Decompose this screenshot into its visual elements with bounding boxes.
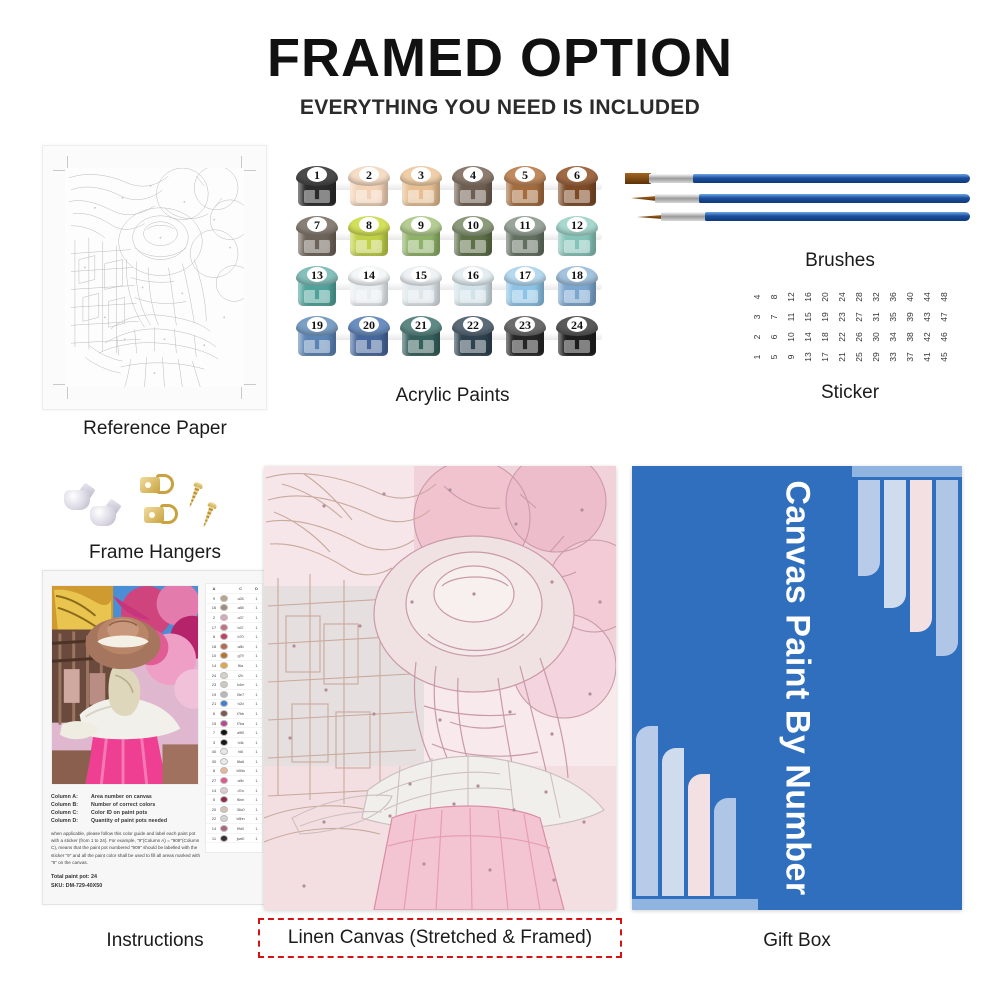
sticker-number: 11 (786, 310, 796, 324)
legend-row: 11jwd01 (206, 834, 262, 844)
paint-pot-number: 24 (556, 317, 598, 334)
sticker-number: 43 (922, 310, 932, 324)
sticker-number: 12 (786, 290, 796, 304)
sticker-number: 5 (769, 350, 779, 364)
legend-color-id: b70 (228, 634, 253, 639)
caption-sticker: Sticker (760, 382, 940, 404)
legend-area-number: 17 (208, 625, 220, 630)
paint-pot: 22 (452, 316, 494, 358)
legend-row: 17b471 (206, 623, 262, 633)
sticker-number: 35 (888, 310, 898, 324)
reference-paper-sheet (42, 145, 267, 410)
paint-pot-number: 7 (296, 217, 338, 234)
legend-color-id: a26 (228, 596, 253, 601)
legend-color-id: a9f0 (228, 730, 253, 735)
legend-color-id: d7a (228, 788, 253, 793)
legend-color-swatch (220, 614, 228, 621)
legend-color-swatch (220, 643, 228, 650)
acrylic-paint-pots: 123456789101112131415161718192021222324 (296, 166, 608, 361)
legend-row: 2036c01 (206, 805, 262, 815)
sticker-number: 42 (922, 330, 932, 344)
paint-pot: 5 (504, 166, 546, 208)
legend-area-number: 20 (208, 807, 220, 812)
legend-area-number: 18 (208, 644, 220, 649)
legend-row: 14f9d01 (206, 824, 262, 834)
legend-row: 24r2h1 (206, 671, 262, 681)
sticker-number: 24 (837, 290, 847, 304)
framed-option-infographic: FRAMED OPTION EVERYTHING YOU NEED IS INC… (0, 0, 1000, 1000)
sticker-number: 29 (871, 350, 881, 364)
legend-quantity: 1 (253, 740, 260, 745)
sticker-number: 17 (820, 350, 830, 364)
sticker-number: 23 (837, 310, 847, 324)
legend-area-number: 8 (208, 634, 220, 639)
d-ring-hanger-icon (140, 474, 174, 496)
paint-pot-number: 17 (504, 267, 546, 284)
legend-row: 18a8b1 (206, 642, 262, 652)
paint-pot-number: 9 (400, 217, 442, 234)
plastic-hook-icon (64, 480, 90, 510)
legend-quantity: 1 (253, 788, 260, 793)
legend-color-swatch (220, 720, 228, 727)
paint-pot: 4 (452, 166, 494, 208)
sticker-number: 9 (786, 350, 796, 364)
legend-area-number: 6 (208, 711, 220, 716)
instructions-total-paint-pot: Total paint pot: 24 (51, 873, 201, 882)
paint-pot: 20 (348, 316, 390, 358)
legend-color-swatch (220, 595, 228, 602)
instructions-sheet: A C D 9a26116a8812a37117b4718b70118a8b11… (42, 570, 270, 905)
legend-color-id: b59a (228, 768, 253, 773)
paint-pot-number: 3 (400, 167, 442, 184)
sticker-number: 22 (837, 330, 847, 344)
caption-acrylic-paints: Acrylic Paints (300, 385, 605, 407)
legend-row: 16a881 (206, 604, 262, 614)
legend-area-number: 14 (208, 826, 220, 831)
paint-pot: 16 (452, 266, 494, 308)
sticker-number: 20 (820, 290, 830, 304)
paint-pot: 14 (348, 266, 390, 308)
instructions-note: when applicable, please follow this colo… (51, 830, 201, 866)
column-a-desc: Area number on canvas (91, 794, 152, 800)
brush-round-medium (631, 194, 970, 203)
instructions-color-reference-image (51, 585, 199, 785)
brush-flat (625, 174, 970, 183)
page-subtitle: EVERYTHING YOU NEED IS INCLUDED (0, 96, 1000, 120)
paint-pot: 18 (556, 266, 598, 308)
legend-color-swatch (220, 787, 228, 794)
sticker-number: 2 (752, 330, 762, 344)
legend-color-id: h2d (228, 701, 253, 706)
legend-color-swatch (220, 825, 228, 832)
legend-color-swatch (220, 652, 228, 659)
paint-pot-number: 14 (348, 267, 390, 284)
legend-area-number: 2 (208, 615, 220, 620)
paint-pot: 11 (504, 216, 546, 258)
instructions-columns-list: Column A:Area number on canvas Column B:… (51, 793, 201, 825)
legend-area-number: 21 (208, 701, 220, 706)
legend-color-id: f7ba (228, 721, 253, 726)
legend-row: 8b59a1 (206, 767, 262, 777)
legend-color-id: f6a (228, 663, 253, 668)
paint-pot-number: 6 (556, 167, 598, 184)
legend-area-number: 5 (208, 797, 220, 802)
caption-instructions: Instructions (42, 930, 268, 952)
legend-area-number: 16 (208, 605, 220, 610)
legend-row: 14f6a1 (206, 661, 262, 671)
sticker-number: 41 (922, 350, 932, 364)
paint-pot: 23 (504, 316, 546, 358)
paint-pot-number: 19 (296, 317, 338, 334)
sticker-number: 10 (786, 330, 796, 344)
d-ring-hanger-icon (144, 504, 178, 526)
legend-row: 7a9f01 (206, 728, 262, 738)
legend-color-id: a37 (228, 615, 253, 620)
caption-reference-paper: Reference Paper (42, 418, 268, 440)
caption-linen-canvas: Linen Canvas (Stretched & Framed) (288, 927, 592, 949)
legend-quantity: 1 (253, 816, 260, 821)
legend-quantity: 1 (253, 663, 260, 668)
legend-row: 30f8a61 (206, 757, 262, 767)
paint-pot-number: 23 (504, 317, 546, 334)
paint-pot: 10 (452, 216, 494, 258)
legend-quantity: 1 (253, 711, 260, 716)
sticker-number: 36 (888, 290, 898, 304)
column-b-desc: Number of correct colors (91, 802, 155, 808)
screw-icon (199, 501, 217, 528)
sticker-number: 8 (769, 290, 779, 304)
legend-color-swatch (220, 806, 228, 813)
paint-pot: 9 (400, 216, 442, 258)
sticker-number: 7 (769, 310, 779, 324)
paint-pot-number: 8 (348, 217, 390, 234)
paint-pot: 15 (400, 266, 442, 308)
legend-row: 15f7ba1 (206, 719, 262, 729)
brush-round-fine (637, 212, 970, 221)
legend-color-swatch (220, 739, 228, 746)
frame-hangers-group (62, 468, 252, 548)
legend-area-number: 24 (208, 673, 220, 678)
gift-box-preview: Canvas Paint By Number (632, 466, 962, 910)
legend-quantity: 1 (253, 797, 260, 802)
legend-row: 23h4m1 (206, 680, 262, 690)
legend-header-d: D (253, 586, 260, 591)
legend-header-row: A C D (206, 584, 262, 594)
column-c-label: Column C: (51, 809, 91, 817)
paint-pot-number: 4 (452, 167, 494, 184)
paint-pot: 24 (556, 316, 598, 358)
legend-color-id: jwd0 (228, 836, 253, 841)
legend-quantity: 1 (253, 605, 260, 610)
legend-area-number: 7 (208, 730, 220, 735)
sticker-number: 14 (803, 330, 813, 344)
paint-pot-number: 13 (296, 267, 338, 284)
sticker-number: 48 (939, 290, 949, 304)
column-a-label: Column A: (51, 793, 91, 801)
legend-color-id: t7bb (228, 711, 253, 716)
legend-color-swatch (220, 633, 228, 640)
legend-color-id: b47 (228, 625, 253, 630)
legend-area-number: 23 (208, 682, 220, 687)
paint-pot-number: 16 (452, 267, 494, 284)
legend-quantity: 1 (253, 634, 260, 639)
legend-quantity: 1 (253, 778, 260, 783)
legend-color-id: r2h (228, 673, 253, 678)
paint-pot-number: 5 (504, 167, 546, 184)
legend-quantity: 1 (253, 596, 260, 601)
legend-color-id: h4k (228, 740, 253, 745)
paint-pot: 7 (296, 216, 338, 258)
legend-color-swatch (220, 691, 228, 698)
instructions-color-legend: A C D 9a26116a8812a37117b4718b70118a8b11… (205, 583, 263, 853)
legend-color-swatch (220, 700, 228, 707)
sticker-number: 27 (854, 310, 864, 324)
legend-color-swatch (220, 672, 228, 679)
legend-color-swatch (220, 815, 228, 822)
paint-brushes (625, 168, 970, 248)
sticker-number: 15 (803, 310, 813, 324)
legend-area-number: 9 (208, 596, 220, 601)
sticker-number: 44 (922, 290, 932, 304)
legend-color-swatch (220, 767, 228, 774)
paint-pot-number: 18 (556, 267, 598, 284)
legend-color-swatch (220, 796, 228, 803)
legend-color-swatch (220, 729, 228, 736)
sticker-number: 3 (752, 310, 762, 324)
legend-header-a: A (208, 586, 220, 591)
page-title: FRAMED OPTION (0, 30, 1000, 87)
legend-color-id: b8hn (228, 816, 253, 821)
plastic-hook-icon (90, 496, 116, 526)
legend-row: 8b701 (206, 632, 262, 642)
paint-pot: 12 (556, 216, 598, 258)
paint-pot-number: 15 (400, 267, 442, 284)
legend-color-id: f6nn (228, 797, 253, 802)
gift-box-title: Canvas Paint By Number (778, 480, 817, 895)
sticker-number: 6 (769, 330, 779, 344)
paint-pot-number: 20 (348, 317, 390, 334)
sticker-number: 16 (803, 290, 813, 304)
legend-color-id: a88 (228, 605, 253, 610)
sticker-number: 39 (905, 310, 915, 324)
legend-quantity: 1 (253, 807, 260, 812)
legend-area-number: 22 (208, 816, 220, 821)
sticker-sheet: 4812162024283236404448371115192327313539… (748, 288, 953, 368)
sticker-number: 45 (939, 350, 949, 364)
caption-frame-hangers: Frame Hangers (42, 542, 268, 564)
legend-area-number: 19 (208, 692, 220, 697)
legend-color-id: f9d0 (228, 826, 253, 831)
legend-row: 3h4k1 (206, 738, 262, 748)
paint-pot: 19 (296, 316, 338, 358)
column-d-desc: Quantity of paint pots needed (91, 818, 167, 824)
sticker-number: 33 (888, 350, 898, 364)
legend-color-id: 36c0 (228, 807, 253, 812)
legend-quantity: 1 (253, 615, 260, 620)
linen-canvas-preview (264, 466, 616, 910)
legend-row: 2a371 (206, 613, 262, 623)
sticker-number: 47 (939, 310, 949, 324)
legend-color-swatch (220, 710, 228, 717)
legend-quantity: 1 (253, 653, 260, 658)
paint-pot-number: 22 (452, 317, 494, 334)
legend-color-id: a9b (228, 778, 253, 783)
legend-color-swatch (220, 777, 228, 784)
instructions-text-block: Column A:Area number on canvas Column B:… (51, 793, 201, 891)
paint-pot: 2 (348, 166, 390, 208)
instructions-sku: SKU: DM-729-40X50 (51, 882, 201, 891)
legend-quantity: 1 (253, 692, 260, 697)
legend-quantity: 1 (253, 759, 260, 764)
sticker-number: 31 (871, 310, 881, 324)
paint-pot-number: 12 (556, 217, 598, 234)
sticker-number: 25 (854, 350, 864, 364)
legend-color-id: h4m (228, 682, 253, 687)
legend-quantity: 1 (253, 644, 260, 649)
legend-color-swatch (220, 748, 228, 755)
sticker-number: 13 (803, 350, 813, 364)
legend-quantity: 1 (253, 701, 260, 706)
legend-color-swatch (220, 662, 228, 669)
sticker-number: 37 (905, 350, 915, 364)
sticker-number: 38 (905, 330, 915, 344)
legend-row: 21h2d1 (206, 700, 262, 710)
legend-area-number: 27 (208, 778, 220, 783)
column-d-label: Column D: (51, 817, 91, 825)
legend-row: 9a261 (206, 594, 262, 604)
paint-pot-number: 1 (296, 167, 338, 184)
legend-area-number: 30 (208, 759, 220, 764)
legend-color-swatch (220, 758, 228, 765)
sticker-number: 21 (837, 350, 847, 364)
legend-area-number: 14 (208, 663, 220, 668)
sticker-number: 4 (752, 290, 762, 304)
paint-pot: 13 (296, 266, 338, 308)
legend-area-number: 40 (208, 749, 220, 754)
paint-pot: 3 (400, 166, 442, 208)
sticker-number: 1 (752, 350, 762, 364)
column-c-desc: Color ID on paint pots (91, 810, 147, 816)
legend-color-id: h6l (228, 749, 253, 754)
paint-pot: 8 (348, 216, 390, 258)
legend-color-swatch (220, 604, 228, 611)
sticker-number: 46 (939, 330, 949, 344)
sticker-number: 18 (820, 330, 830, 344)
legend-color-id: a8b (228, 644, 253, 649)
paint-pot: 6 (556, 166, 598, 208)
caption-gift-box: Gift Box (632, 930, 962, 952)
legend-quantity: 1 (253, 826, 260, 831)
legend-quantity: 1 (253, 673, 260, 678)
paint-pot: 17 (504, 266, 546, 308)
reference-line-art (65, 168, 244, 387)
legend-area-number: 10 (208, 653, 220, 658)
legend-row: 19f3e71 (206, 690, 262, 700)
legend-quantity: 1 (253, 730, 260, 735)
sticker-number: 28 (854, 290, 864, 304)
linen-canvas-label-box: Linen Canvas (Stretched & Framed) (258, 918, 622, 958)
legend-quantity: 1 (253, 836, 260, 841)
legend-row: 22b8hn1 (206, 815, 262, 825)
sticker-number: 19 (820, 310, 830, 324)
paint-pot-number: 21 (400, 317, 442, 334)
legend-row: 27a9b1 (206, 776, 262, 786)
paint-pot: 1 (296, 166, 338, 208)
caption-brushes: Brushes (760, 250, 920, 272)
legend-quantity: 1 (253, 749, 260, 754)
legend-area-number: 11 (208, 836, 220, 841)
legend-color-id: f8a6 (228, 759, 253, 764)
legend-header-c: C (228, 586, 253, 591)
legend-color-id: g79 (228, 653, 253, 658)
sticker-number: 32 (871, 290, 881, 304)
legend-row: 5f6nn1 (206, 795, 262, 805)
legend-area-number: 14 (208, 788, 220, 793)
column-b-label: Column B: (51, 801, 91, 809)
legend-row: 10g791 (206, 652, 262, 662)
legend-color-swatch (220, 624, 228, 631)
screw-icon (185, 481, 203, 508)
paint-pot-number: 11 (504, 217, 546, 234)
sticker-number: 26 (854, 330, 864, 344)
sticker-number: 34 (888, 330, 898, 344)
legend-row: 14d7a1 (206, 786, 262, 796)
legend-quantity: 1 (253, 625, 260, 630)
legend-quantity: 1 (253, 682, 260, 687)
legend-area-number: 8 (208, 768, 220, 773)
sticker-number: 40 (905, 290, 915, 304)
legend-quantity: 1 (253, 721, 260, 726)
paint-pot: 21 (400, 316, 442, 358)
legend-row: 6t7bb1 (206, 709, 262, 719)
legend-color-swatch (220, 681, 228, 688)
legend-color-swatch (220, 835, 228, 842)
legend-area-number: 15 (208, 721, 220, 726)
sticker-number: 30 (871, 330, 881, 344)
legend-area-number: 3 (208, 740, 220, 745)
legend-color-id: f3e7 (228, 692, 253, 697)
legend-row: 40h6l1 (206, 748, 262, 758)
paint-pot-number: 2 (348, 167, 390, 184)
paint-pot-number: 10 (452, 217, 494, 234)
legend-quantity: 1 (253, 768, 260, 773)
